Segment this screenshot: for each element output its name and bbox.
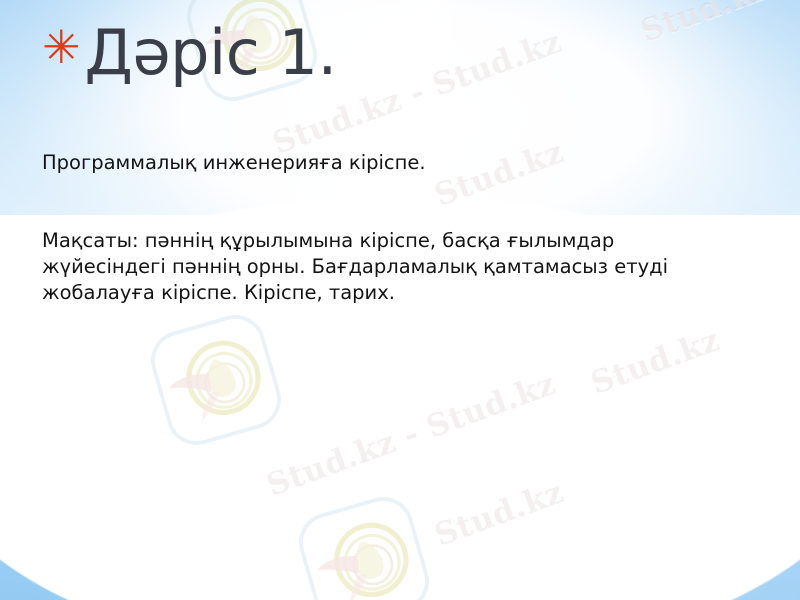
slide-body: Программалық инженерияға кіріспе. Мақсат…	[42, 150, 742, 306]
slide-subtitle: Программалық инженерияға кіріспе.	[42, 150, 742, 176]
body-spacer	[42, 176, 742, 228]
presentation-slide: Stud.kz - Stud.kzStud.kzStud.kz - Stud.k…	[0, 0, 800, 600]
slide-title-row: ✳ Дәріс 1.	[42, 18, 337, 87]
objective-line-2: жүйесіндегі пәннің орны. Бағдарламалық қ…	[42, 254, 742, 280]
objective-line-1: Мақсаты: пәннің құрылымына кіріспе, басқ…	[42, 228, 742, 254]
objective-line-3: жобалауға кіріспе. Кіріспе, тарих.	[42, 280, 742, 306]
asterisk-bullet-icon: ✳	[42, 24, 81, 70]
page-title: Дәріс 1.	[85, 18, 337, 87]
